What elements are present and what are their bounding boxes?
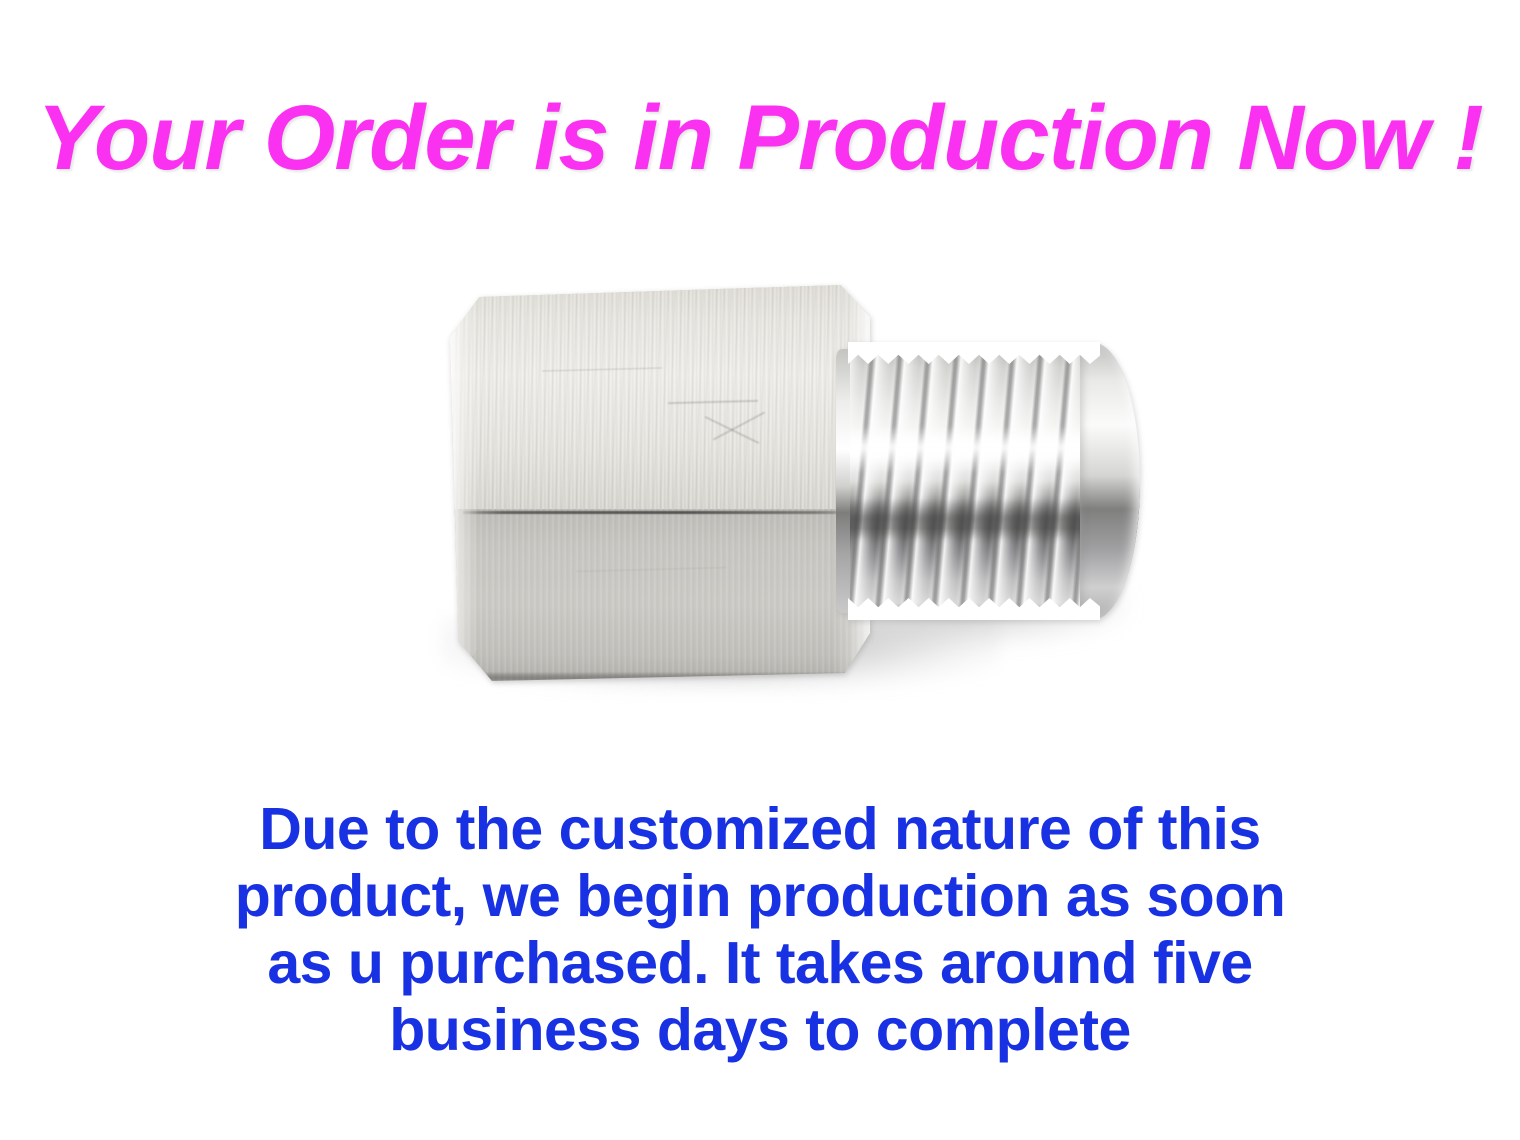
notice-line: as u purchased. It takes around five xyxy=(0,930,1520,997)
thread-end-cap xyxy=(1080,343,1140,619)
production-notice: Due to the customized nature of this pro… xyxy=(0,796,1520,1064)
male-threaded-nipple xyxy=(850,343,1140,619)
hex-body-surface xyxy=(450,281,870,681)
notice-line: product, we begin production as soon xyxy=(0,863,1520,930)
hex-facet-edge xyxy=(463,511,862,514)
hex-nut-body xyxy=(450,281,870,681)
hex-upper-facet xyxy=(450,281,870,513)
hex-lower-facet xyxy=(450,509,870,681)
hex-bottom-lip xyxy=(475,673,857,681)
notice-line: Due to the customized nature of this xyxy=(0,796,1520,863)
thread-surface xyxy=(850,343,1140,619)
promo-banner: Your Order is in Production Now ! xyxy=(0,0,1520,1140)
product-photo xyxy=(380,235,1180,765)
page-title: Your Order is in Production Now ! xyxy=(0,86,1520,190)
hex-left-chamfer xyxy=(450,293,479,669)
notice-line: business days to complete xyxy=(0,997,1520,1064)
